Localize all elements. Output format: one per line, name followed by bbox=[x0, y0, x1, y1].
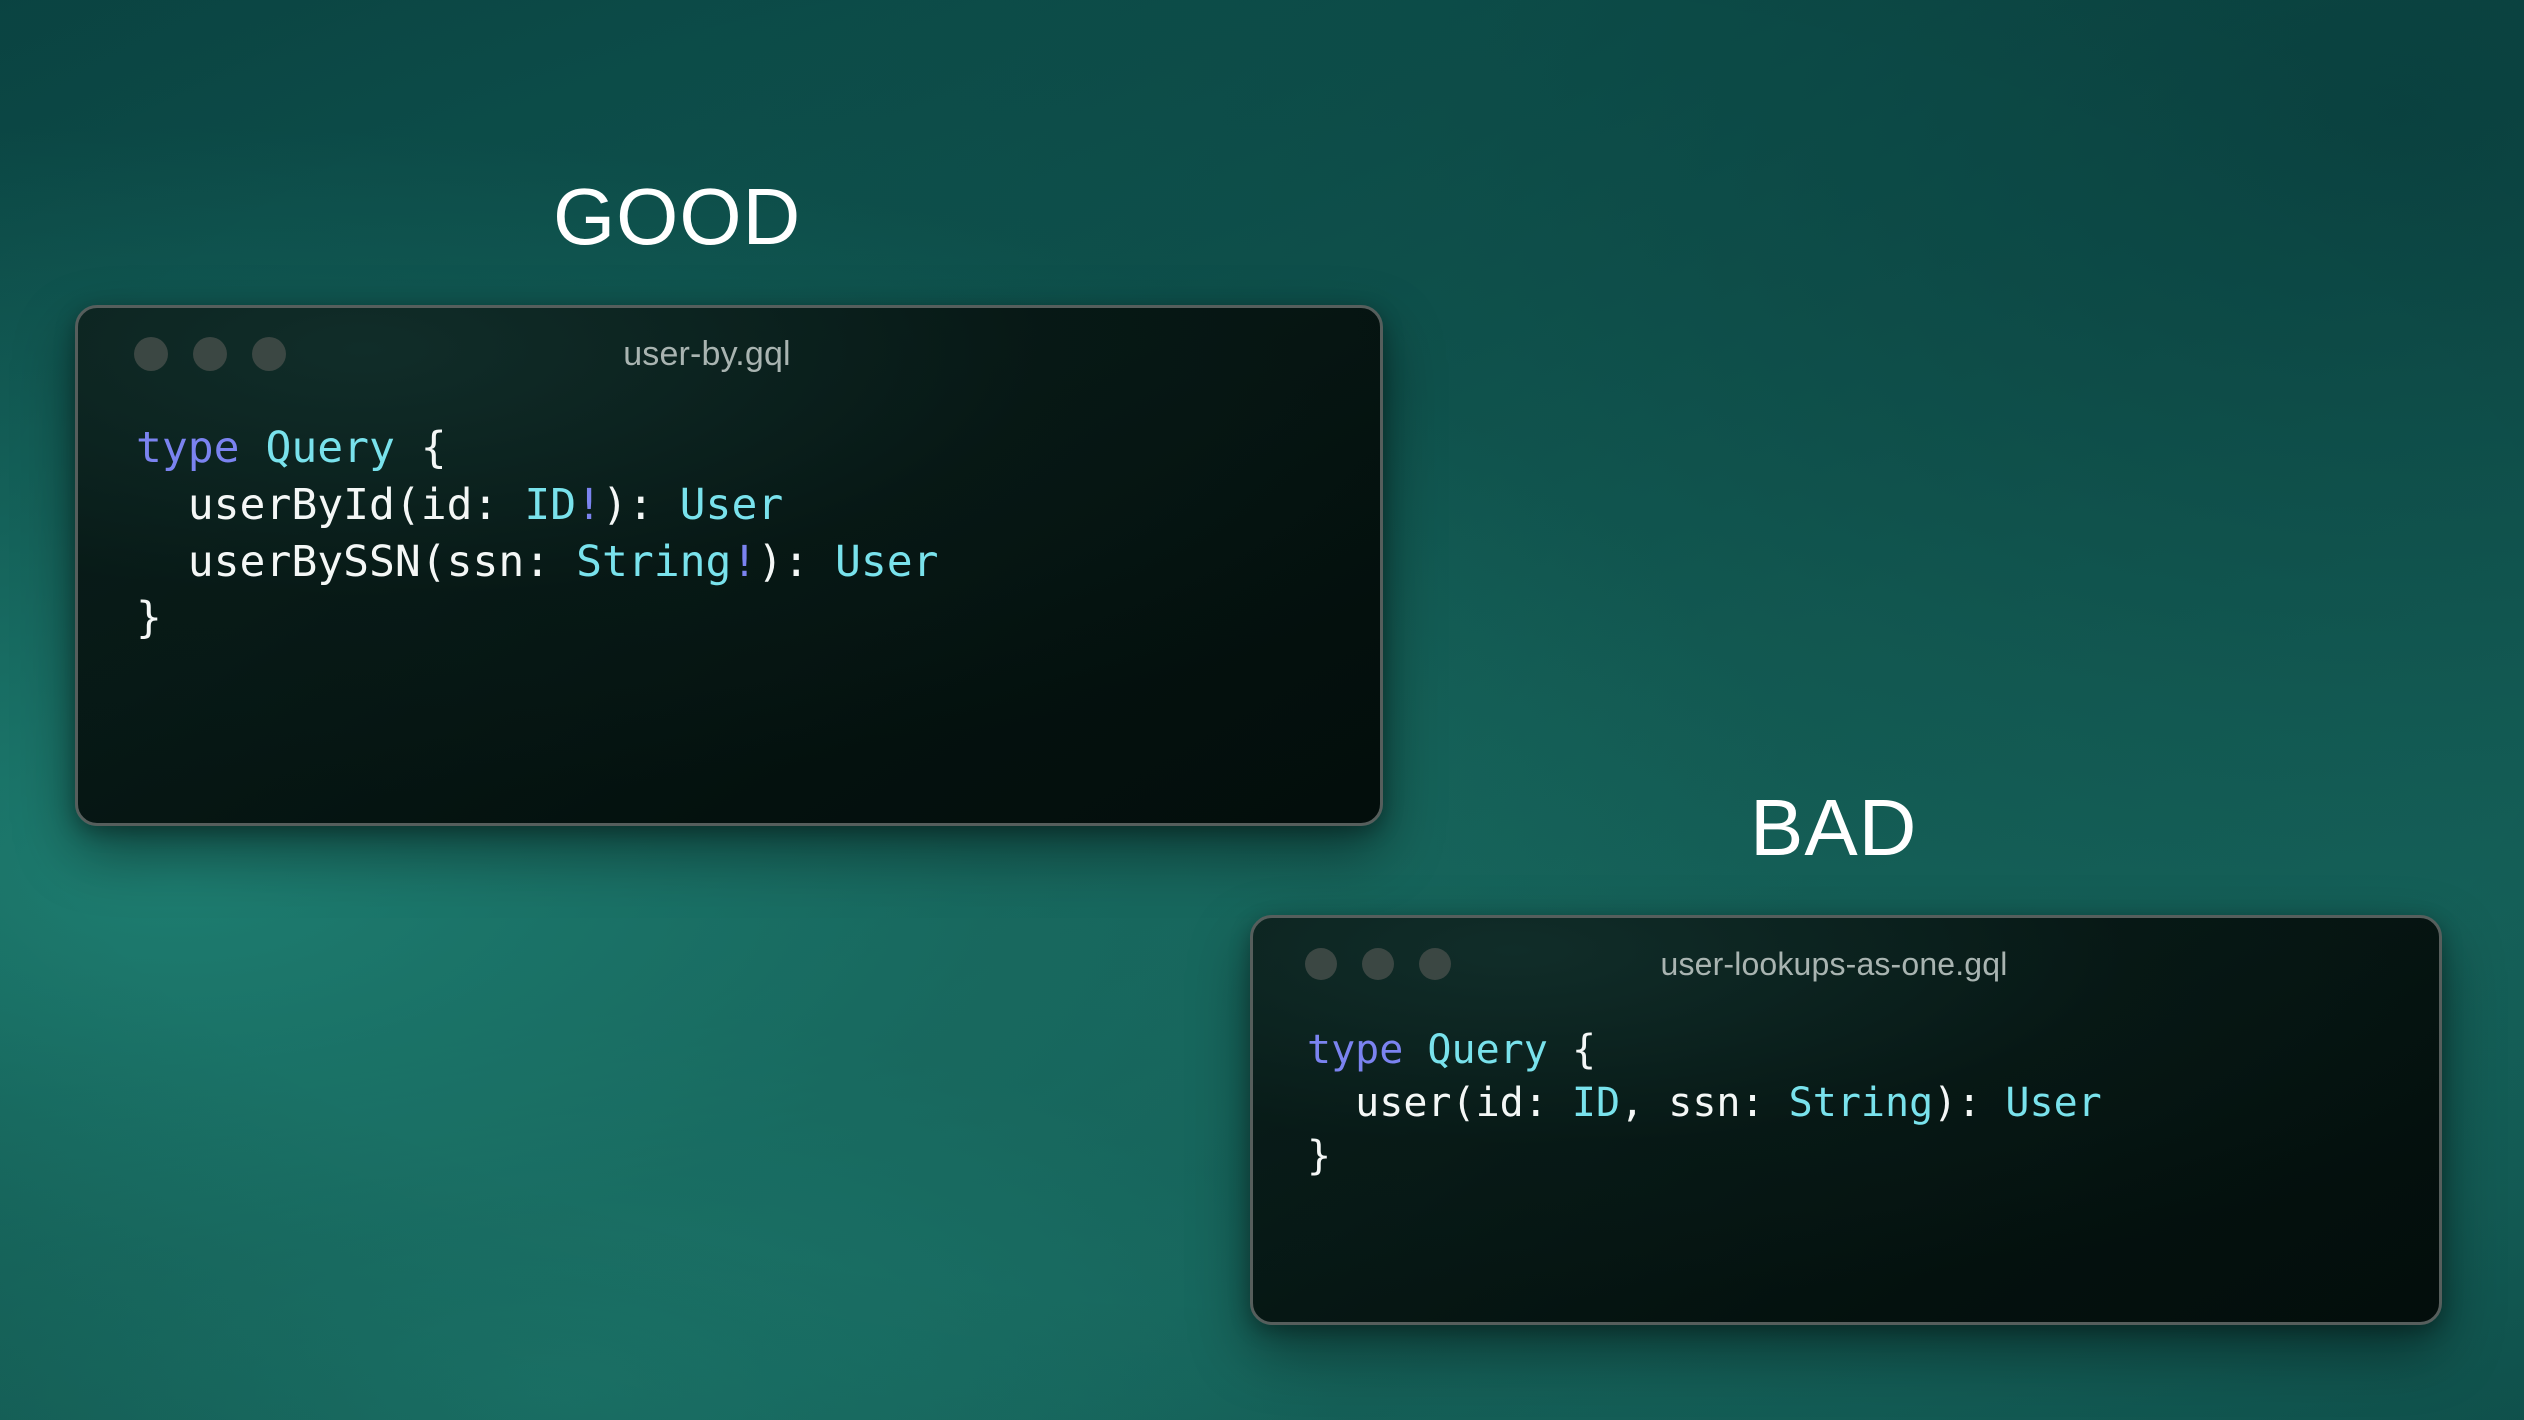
traffic-lights bbox=[134, 337, 286, 371]
code-token-type: ID bbox=[524, 480, 576, 530]
code-block-good: type Query { userById(id: ID!): User use… bbox=[78, 400, 1380, 647]
code-token-type: User bbox=[680, 480, 784, 530]
minimize-dot-icon[interactable] bbox=[193, 337, 227, 371]
code-token-plain: } bbox=[136, 593, 162, 643]
close-dot-icon[interactable] bbox=[1305, 948, 1337, 980]
code-block-bad: type Query { user(id: ID, ssn: String): … bbox=[1253, 1010, 2439, 1182]
bad-example-label: BAD bbox=[1750, 788, 1917, 868]
code-token-plain bbox=[240, 423, 266, 473]
maximize-dot-icon[interactable] bbox=[252, 337, 286, 371]
window-titlebar: user-by.gql bbox=[78, 308, 1380, 400]
minimize-dot-icon[interactable] bbox=[1362, 948, 1394, 980]
code-token-plain: { bbox=[1572, 1027, 1596, 1073]
code-token-plain: } bbox=[1307, 1133, 1331, 1179]
code-line: } bbox=[136, 590, 1380, 647]
code-token-plain: ): bbox=[757, 537, 835, 587]
code-token-plain: , ssn: bbox=[1620, 1080, 1789, 1126]
code-token-keyword: type bbox=[136, 423, 240, 473]
code-token-bang: ! bbox=[731, 537, 757, 587]
code-token-plain bbox=[1548, 1027, 1572, 1073]
code-token-type: Query bbox=[265, 423, 394, 473]
code-token-type: String bbox=[1789, 1080, 1934, 1126]
code-line: userBySSN(ssn: String!): User bbox=[136, 534, 1380, 591]
code-token-type: User bbox=[835, 537, 939, 587]
code-token-bang: ! bbox=[576, 480, 602, 530]
code-window-good: user-by.gql type Query { userById(id: ID… bbox=[75, 305, 1383, 826]
traffic-lights bbox=[1305, 948, 1451, 980]
code-line: userById(id: ID!): User bbox=[136, 477, 1380, 534]
code-token-type: ID bbox=[1572, 1080, 1620, 1126]
code-line: user(id: ID, ssn: String): User bbox=[1307, 1077, 2439, 1130]
code-token-plain bbox=[395, 423, 421, 473]
code-token-plain: ): bbox=[602, 480, 680, 530]
code-token-plain: user(id: bbox=[1307, 1080, 1572, 1126]
window-titlebar: user-lookups-as-one.gql bbox=[1253, 918, 2439, 1010]
code-token-plain: userBySSN(ssn: bbox=[136, 537, 576, 587]
maximize-dot-icon[interactable] bbox=[1419, 948, 1451, 980]
code-token-type: Query bbox=[1427, 1027, 1547, 1073]
close-dot-icon[interactable] bbox=[134, 337, 168, 371]
code-line: } bbox=[1307, 1130, 2439, 1183]
code-token-plain: { bbox=[421, 423, 447, 473]
code-window-bad: user-lookups-as-one.gql type Query { use… bbox=[1250, 915, 2442, 1325]
code-token-keyword: type bbox=[1307, 1027, 1403, 1073]
code-token-type: User bbox=[2005, 1080, 2101, 1126]
code-token-type: String bbox=[576, 537, 731, 587]
good-example-label: GOOD bbox=[553, 177, 801, 257]
code-token-plain: userById(id: bbox=[136, 480, 524, 530]
code-token-plain: ): bbox=[1933, 1080, 2005, 1126]
code-line: type Query { bbox=[136, 420, 1380, 477]
code-token-plain bbox=[1403, 1027, 1427, 1073]
code-line: type Query { bbox=[1307, 1024, 2439, 1077]
